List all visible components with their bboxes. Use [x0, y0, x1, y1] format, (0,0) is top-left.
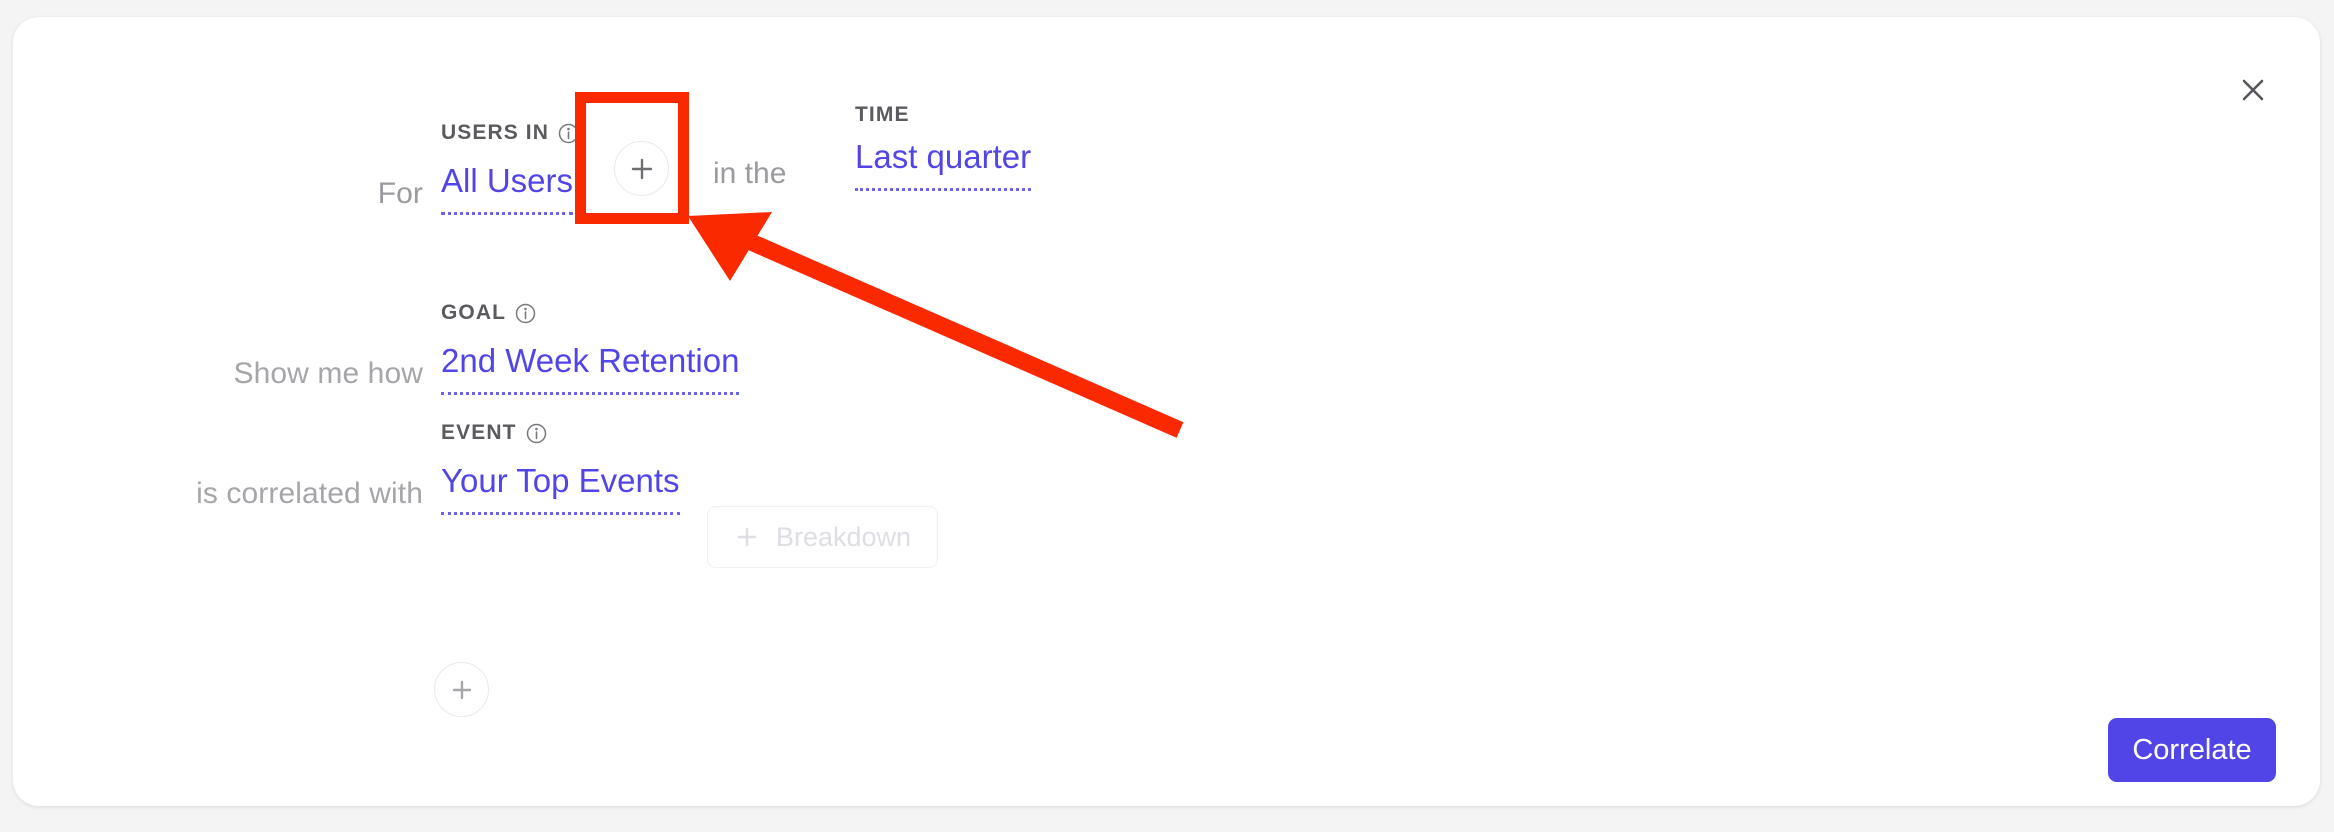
row-prefix-is-correlated-with: is correlated with: [13, 474, 423, 523]
connector-in-the: in the: [713, 154, 786, 194]
time-label: TIME: [855, 103, 910, 127]
users-in-field: USERS IN All Users: [441, 161, 573, 223]
row-prefix-show-me-how: Show me how: [13, 354, 423, 403]
goal-value[interactable]: 2nd Week Retention: [441, 341, 739, 395]
event-label: EVENT: [441, 421, 517, 445]
add-breakdown-label: Breakdown: [776, 522, 911, 553]
time-value[interactable]: Last quarter: [855, 137, 1031, 191]
users-in-value[interactable]: All Users: [441, 161, 573, 215]
query-row-event: is correlated with EVENT Your Top Events: [13, 437, 680, 523]
goal-label: GOAL: [441, 301, 506, 325]
row-prefix-for: For: [13, 174, 423, 223]
goal-field: GOAL 2nd Week Retention: [441, 341, 739, 403]
query-row-users: For USERS IN All Users: [13, 137, 573, 223]
add-filter-button[interactable]: [614, 141, 669, 196]
event-label-group: EVENT: [441, 421, 547, 445]
plus-icon: [734, 524, 760, 550]
users-in-label-group: USERS IN: [441, 121, 579, 145]
goal-label-group: GOAL: [441, 301, 536, 325]
info-icon[interactable]: [526, 423, 547, 444]
add-breakdown-button[interactable]: Breakdown: [707, 506, 938, 568]
close-icon[interactable]: [2230, 67, 2276, 113]
correlation-query-card: For USERS IN All Users: [13, 17, 2320, 806]
correlate-button[interactable]: Correlate: [2108, 718, 2276, 782]
event-value[interactable]: Your Top Events: [441, 461, 680, 515]
info-icon[interactable]: [558, 123, 579, 144]
query-row-goal: Show me how GOAL 2nd Week Retention: [13, 317, 739, 403]
info-icon[interactable]: [515, 303, 536, 324]
time-label-group: TIME: [855, 103, 910, 127]
users-in-label: USERS IN: [441, 121, 549, 145]
event-field: EVENT Your Top Events: [441, 461, 680, 523]
time-field: TIME Last quarter: [855, 137, 1031, 199]
add-query-row-button[interactable]: [434, 662, 489, 717]
add-filter-button-wrap: [614, 141, 669, 196]
